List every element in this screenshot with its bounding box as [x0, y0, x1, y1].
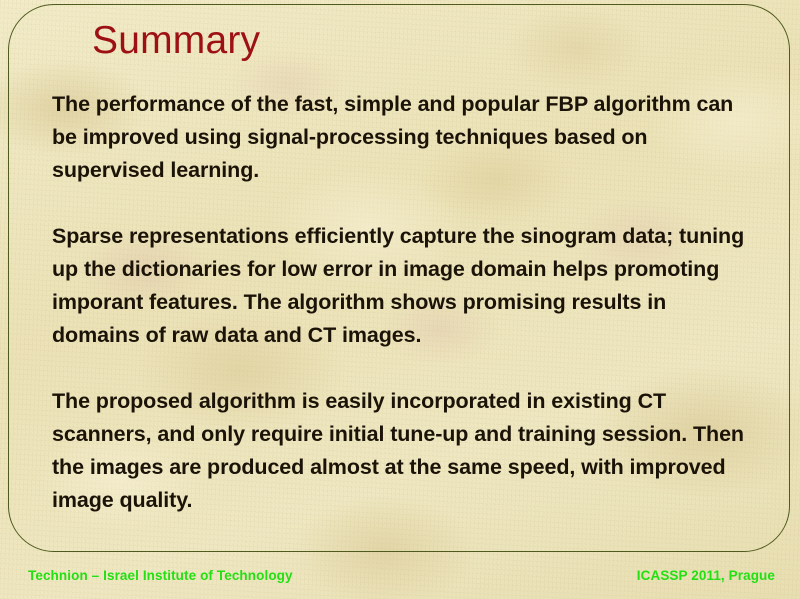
slide-body: The performance of the fast, simple and … — [52, 88, 752, 517]
body-paragraph-1: The performance of the fast, simple and … — [52, 88, 752, 187]
footer-institution: Technion – Israel Institute of Technolog… — [28, 568, 293, 583]
body-paragraph-2: Sparse representations efficiently captu… — [52, 220, 752, 352]
slide-title: Summary — [92, 18, 260, 64]
body-paragraph-3: The proposed algorithm is easily incorpo… — [52, 385, 752, 517]
footer-conference: ICASSP 2011, Prague — [637, 568, 775, 583]
presentation-slide: Summary The performance of the fast, sim… — [0, 0, 800, 599]
